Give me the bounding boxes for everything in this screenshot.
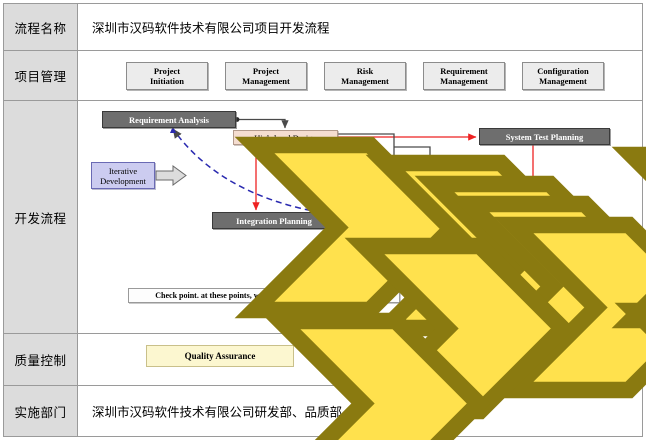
row-label-text: 实施部门 [14, 402, 66, 421]
process-flow-page: 流程名称 深圳市汉码软件技术有限公司项目开发流程 项目管理 ProjectIni… [0, 0, 646, 440]
row-label-text: 质量控制 [14, 350, 66, 369]
process-name-value: 深圳市汉码软件技术有限公司项目开发流程 [92, 18, 330, 37]
pm-box-requirement-management[interactable]: RequirementManagement [423, 62, 505, 90]
row-label-development-process: 开发流程 [4, 101, 78, 333]
checkpoint-icon-requirement-analysis [88, 112, 104, 126]
pm-box-line1: Requirement [440, 66, 488, 76]
development-flow-diagram: Requirement Analysis High-level Design D… [78, 101, 642, 332]
checkpoint-icon-detailed-design [268, 151, 284, 165]
row-label-text: 项目管理 [14, 66, 66, 85]
pm-box-line1: Risk [357, 66, 374, 76]
row-body-development-process: Requirement Analysis High-level Design D… [78, 101, 642, 333]
row-label-text: 开发流程 [14, 208, 66, 227]
pm-box-line1: Configuration [537, 66, 588, 76]
checkpoint-icon-integration-planning [198, 213, 214, 227]
row-label-implementation-department: 实施部门 [4, 386, 78, 436]
checkpoint-icon-unit-testing [347, 192, 363, 206]
row-label-quality-control: 质量控制 [4, 334, 78, 385]
pm-box-line1: Project [154, 66, 180, 76]
process-table: 流程名称 深圳市汉码软件技术有限公司项目开发流程 项目管理 ProjectIni… [3, 3, 643, 437]
pm-box-line2: Management [242, 76, 290, 86]
row-label-process-name: 流程名称 [4, 4, 78, 50]
pm-box-project-management[interactable]: ProjectManagement [225, 62, 307, 90]
pm-box-project-initiation[interactable]: ProjectInitiation [126, 62, 208, 90]
table-row-development-process: 开发流程 [4, 101, 642, 334]
table-row-project-management: 项目管理 ProjectInitiation ProjectManagement… [4, 51, 642, 101]
row-label-text: 流程名称 [14, 18, 66, 37]
checkpoint-icon-system-test-planning [465, 122, 481, 136]
checkpoint-icon-legend [114, 288, 130, 302]
pm-box-line2: Management [440, 76, 488, 86]
pm-box-risk-management[interactable]: RiskManagement [324, 62, 406, 90]
table-row-process-name: 流程名称 深圳市汉码软件技术有限公司项目开发流程 [4, 4, 642, 51]
row-body-process-name: 深圳市汉码软件技术有限公司项目开发流程 [78, 4, 642, 50]
pm-box-configuration-management[interactable]: ConfigurationManagement [522, 62, 604, 90]
checkpoint-icon-build [303, 171, 319, 185]
row-label-project-management: 项目管理 [4, 51, 78, 100]
row-body-project-management: ProjectInitiation ProjectManagement Risk… [78, 51, 642, 100]
pm-box-line2: Initiation [150, 76, 184, 86]
checkpoint-icon-high-level-design [219, 130, 235, 144]
pm-box-line2: Management [539, 76, 587, 86]
pm-box-line1: Project [253, 66, 279, 76]
pm-box-line2: Management [341, 76, 389, 86]
